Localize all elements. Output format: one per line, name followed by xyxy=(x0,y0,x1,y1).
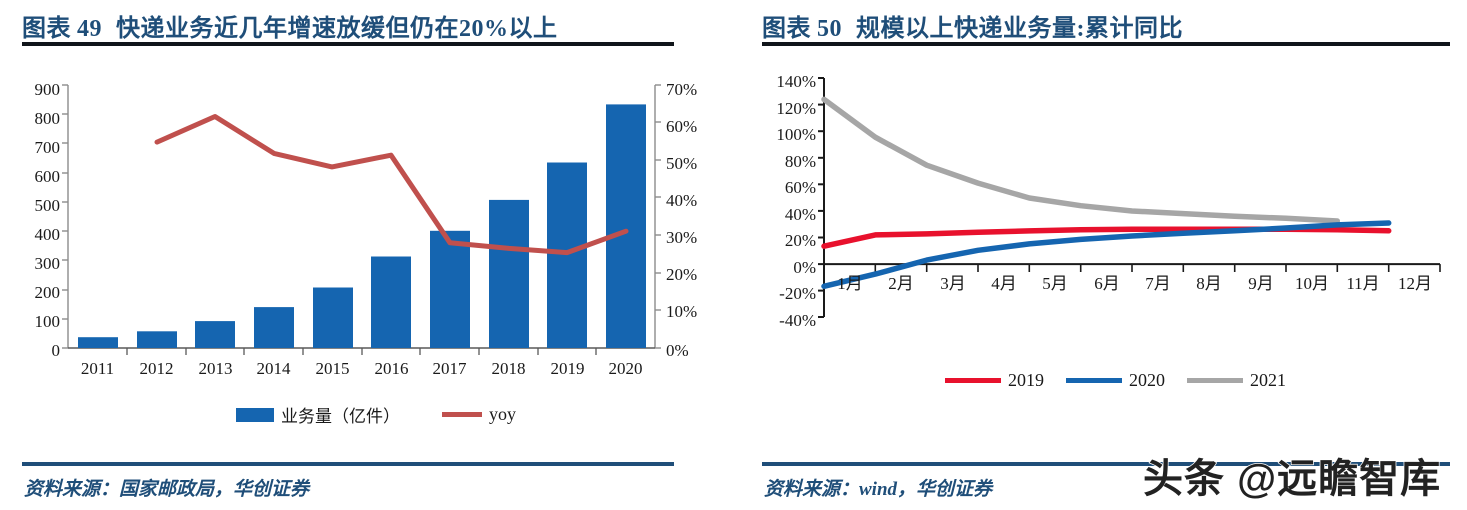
x-axis-label-m4: 4月 xyxy=(978,275,1030,292)
legend-label-2019: 2019 xyxy=(1008,370,1044,391)
legend-line-swatch-icon xyxy=(442,412,482,417)
bar-2018 xyxy=(489,200,529,348)
bar-2013 xyxy=(195,321,235,348)
x-axis-label-m3: 3月 xyxy=(927,275,979,292)
x-axis-label-m8: 8月 xyxy=(1183,275,1235,292)
x-axis-label-2011: 2011 xyxy=(68,360,127,377)
x-axis-label-m6: 6月 xyxy=(1081,275,1133,292)
x-axis-label-m5: 5月 xyxy=(1029,275,1081,292)
legend-label-2020: 2020 xyxy=(1129,370,1165,391)
x-axis-label-m10: 10月 xyxy=(1286,275,1338,292)
figure-49-source: 资料来源：国家邮政局，华创证券 xyxy=(24,474,309,501)
figure-49-footer-rule xyxy=(22,462,674,466)
x-axis-label-2012: 2012 xyxy=(127,360,186,377)
figure-50-title-prefix: 图表 xyxy=(762,16,811,42)
bar-2019 xyxy=(547,163,587,349)
bar-2015 xyxy=(313,288,353,349)
chart-49-plot xyxy=(0,60,718,390)
figure-50-title: 图表50规模以上快递业务量:累计同比 xyxy=(762,8,1183,43)
figure-49-title-prefix: 图表 xyxy=(22,16,71,42)
legend-item-volume[interactable]: 业务量（亿件） xyxy=(236,402,400,427)
x-axis-label-2018: 2018 xyxy=(479,360,538,377)
bar-2011 xyxy=(78,337,118,348)
bar-2017 xyxy=(430,231,470,348)
x-axis-label-2020: 2020 xyxy=(596,360,655,377)
figure-page: 图表49快递业务近几年增速放缓但仍在20%以上 900 800 700 600 … xyxy=(0,0,1467,510)
figure-49-panel: 图表49快递业务近几年增速放缓但仍在20%以上 900 800 700 600 … xyxy=(0,0,718,510)
legend-line-swatch-2020-icon xyxy=(1066,378,1122,383)
legend-item-yoy[interactable]: yoy xyxy=(442,404,516,425)
figure-50-title-text: 规模以上快递业务量:累计同比 xyxy=(856,16,1183,42)
x-axis-label-2016: 2016 xyxy=(362,360,421,377)
legend-label-2021: 2021 xyxy=(1250,370,1286,391)
bar-2012 xyxy=(137,331,177,348)
chart-49: 900 800 700 600 500 400 300 200 100 0 70… xyxy=(0,60,718,390)
figure-50-title-number: 50 xyxy=(817,16,842,42)
x-axis-label-2017: 2017 xyxy=(420,360,479,377)
figure-50-source: 资料来源：wind，华创证券 xyxy=(764,474,992,501)
chart-49-legend: 业务量（亿件） yoy xyxy=(236,402,516,427)
x-axis-label-m11: 11月 xyxy=(1337,275,1389,292)
legend-line-swatch-2021-icon xyxy=(1187,378,1243,383)
chart-50: 140% 120% 100% 80% 60% 40% 20% 0% -20% -… xyxy=(740,60,1467,390)
watermark: 头条 @远瞻智库 xyxy=(1143,446,1441,504)
legend-label-yoy: yoy xyxy=(489,404,516,425)
watermark-text: 头条 @远瞻智库 xyxy=(1143,446,1441,504)
x-axis-label-2015: 2015 xyxy=(303,360,362,377)
bar-2014 xyxy=(254,307,294,348)
x-axis-label-2014: 2014 xyxy=(244,360,303,377)
x-axis-label-2019: 2019 xyxy=(538,360,597,377)
bar-2016 xyxy=(371,257,411,349)
x-axis-label-m7: 7月 xyxy=(1132,275,1184,292)
legend-item-2021[interactable]: 2021 xyxy=(1187,370,1286,391)
x-axis-label-m9: 9月 xyxy=(1235,275,1287,292)
figure-49-title: 图表49快递业务近几年增速放缓但仍在20%以上 xyxy=(22,8,558,43)
figure-49-header-rule xyxy=(22,42,674,46)
x-axis-label-m1: 1月 xyxy=(824,275,876,292)
bar-2020 xyxy=(606,104,646,348)
x-axis-label-2013: 2013 xyxy=(186,360,245,377)
chart-50-legend: 2019 2020 2021 xyxy=(945,370,1286,391)
figure-49-title-text: 快递业务近几年增速放缓但仍在20%以上 xyxy=(116,16,558,42)
legend-line-swatch-2019-icon xyxy=(945,378,1001,383)
legend-item-2020[interactable]: 2020 xyxy=(1066,370,1165,391)
chart-50-plot xyxy=(740,60,1467,390)
legend-item-2019[interactable]: 2019 xyxy=(945,370,1044,391)
x-axis-label-m12: 12月 xyxy=(1389,275,1441,292)
legend-bar-swatch-icon xyxy=(236,408,274,422)
figure-50-panel: 图表50规模以上快递业务量:累计同比 140% 120% 100% 80% 60… xyxy=(740,0,1467,510)
figure-49-title-number: 49 xyxy=(77,16,102,42)
legend-label-volume: 业务量（亿件） xyxy=(281,402,400,427)
x-axis-label-m2: 2月 xyxy=(875,275,927,292)
series-2021-line xyxy=(824,99,1337,221)
figure-50-header-rule xyxy=(762,42,1450,46)
